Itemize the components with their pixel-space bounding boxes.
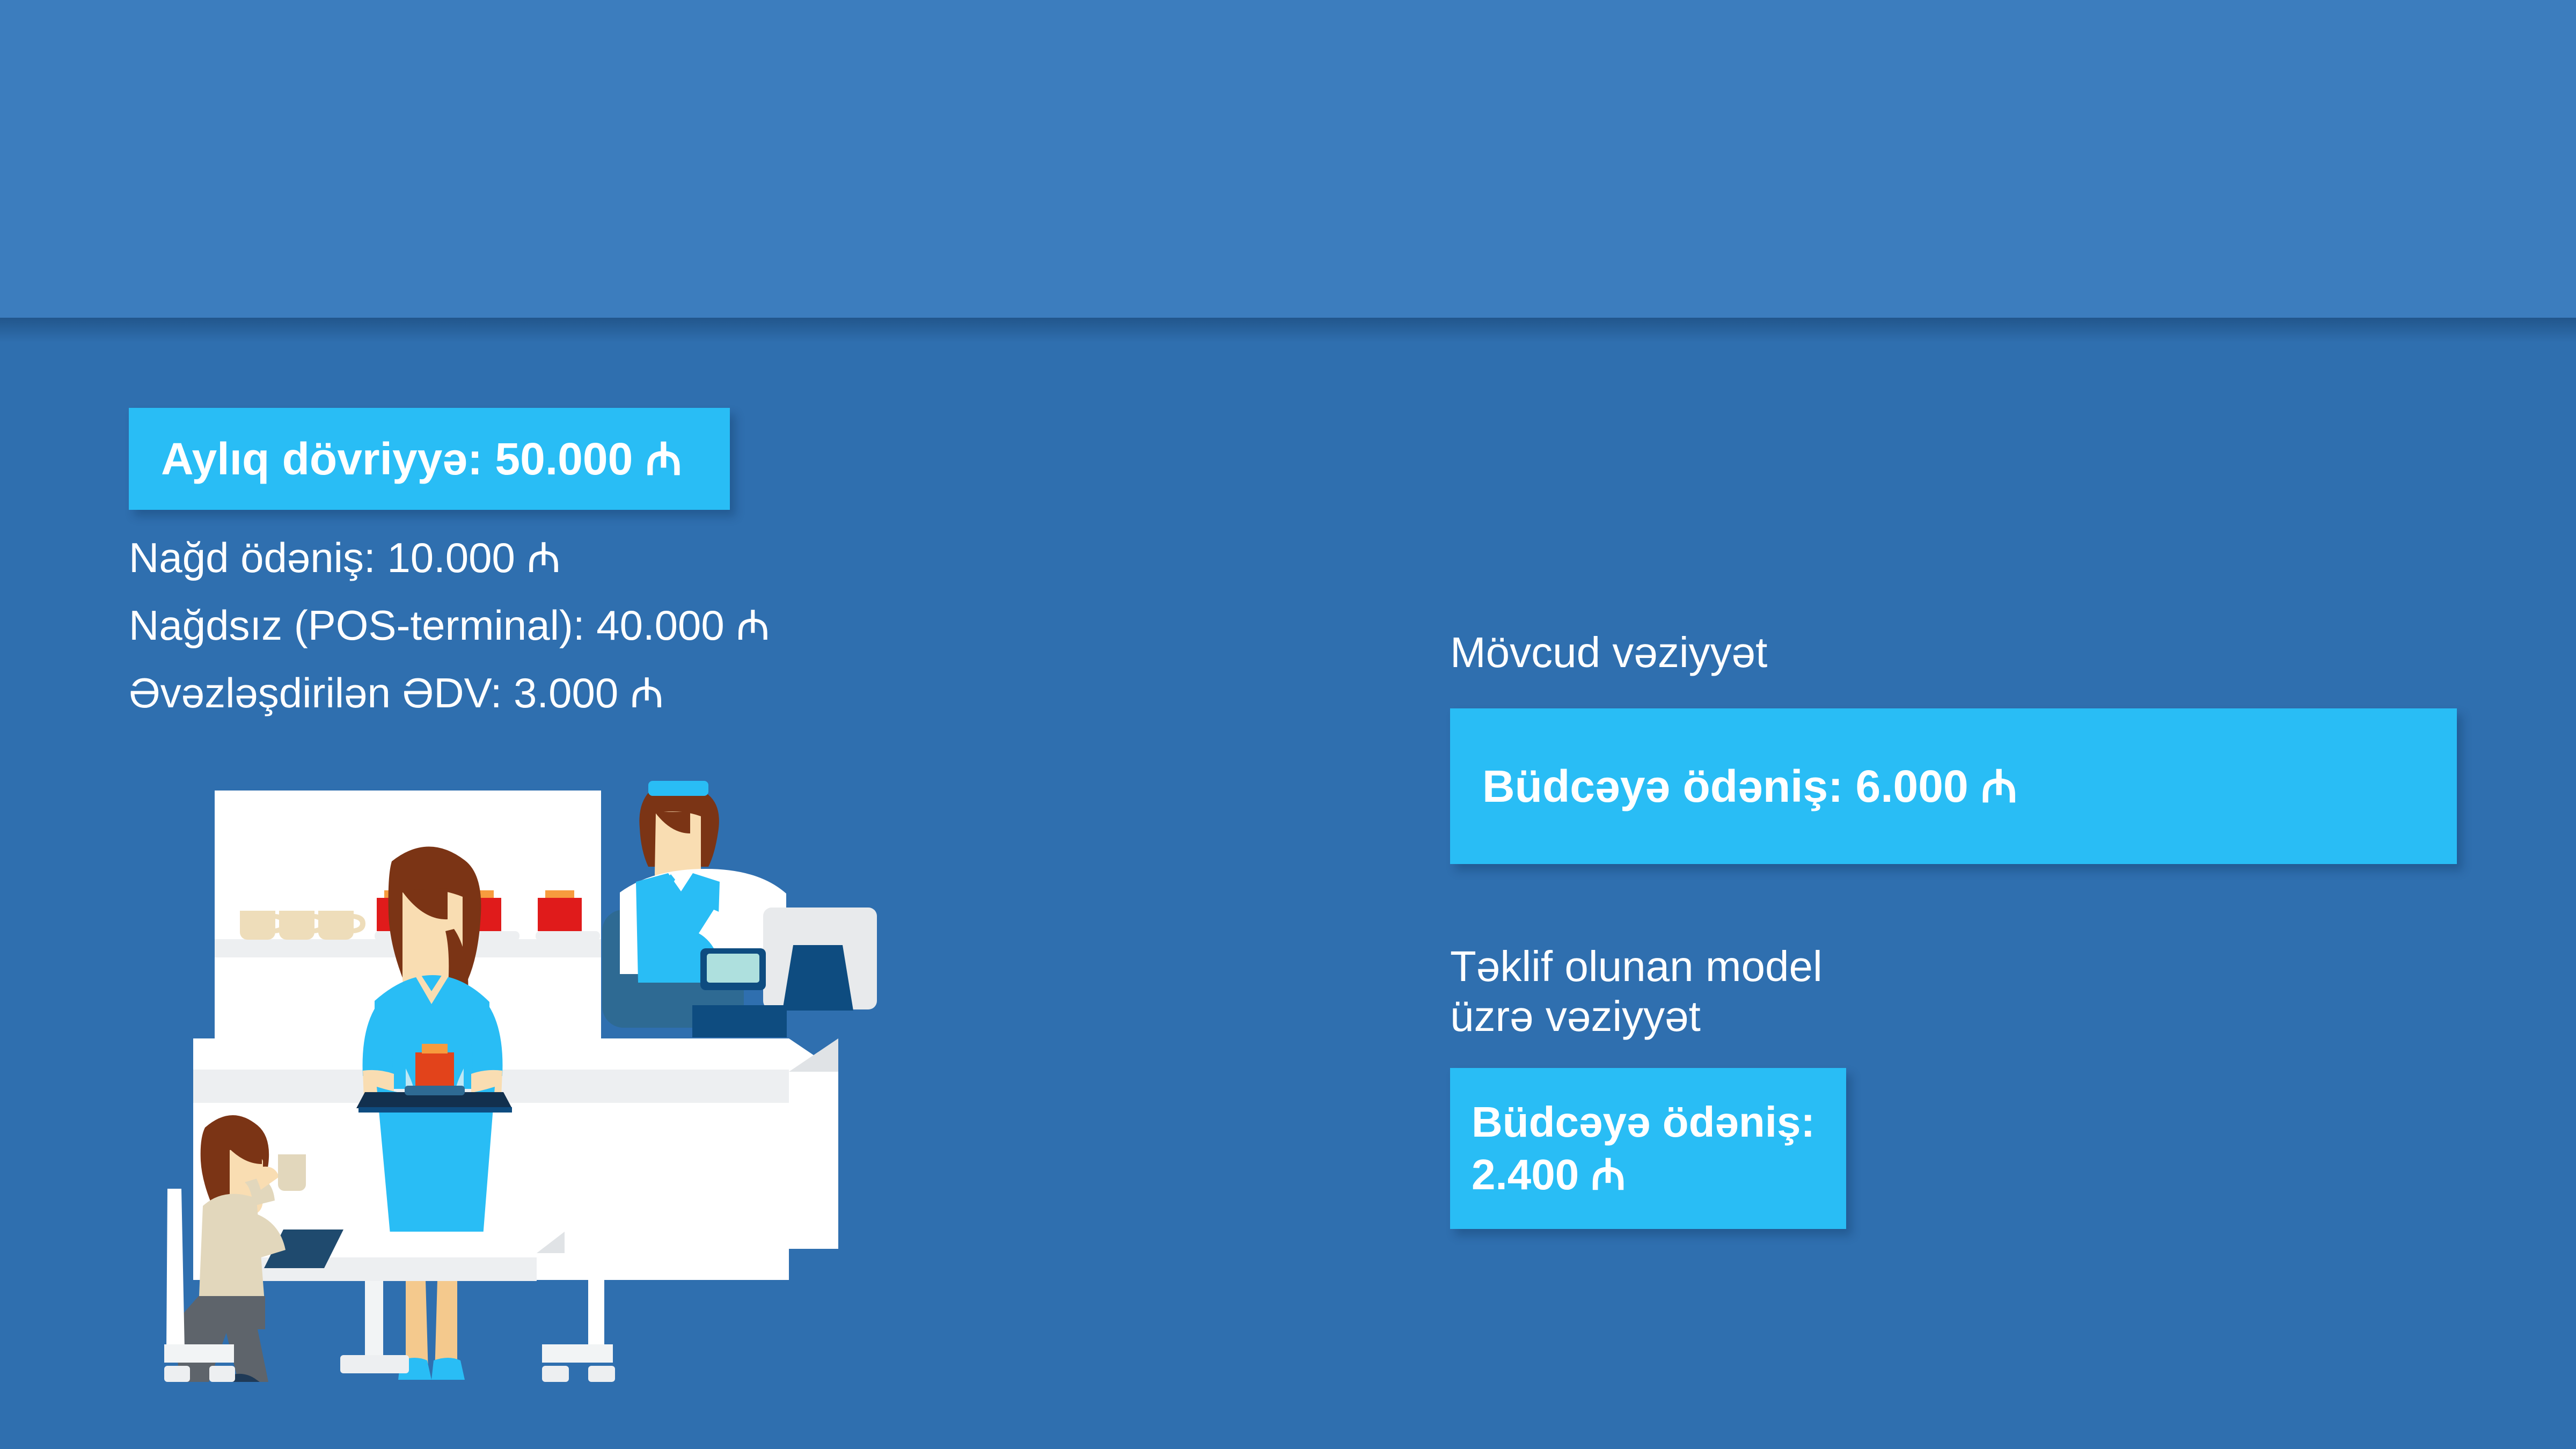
- turnover-highlight-box: Aylıq dövriyyə: 50.000 ₼: [129, 408, 730, 510]
- header-shadow: [0, 318, 2576, 342]
- breakdown-list: Nağd ödəniş: 10.000 ₼ Nağdsız (POS-termi…: [129, 537, 1095, 740]
- cup-group: [240, 911, 365, 940]
- list-item: Əvəzləşdirilən ƏDV: 3.000 ₼: [129, 672, 1095, 714]
- current-payment-box: Büdcəyə ödəniş: 6.000 ₼: [1450, 708, 2457, 864]
- slide-root: İCTİMAİ İAŞƏDƏ NAĞDSIZ ÖDƏNİŞLƏRƏ VERGİ …: [0, 0, 2576, 1449]
- cafe-scene-illustration: [134, 749, 885, 1382]
- header-band: [0, 0, 2576, 318]
- turnover-value-text: Aylıq dövriyyə: 50.000 ₼: [161, 436, 682, 481]
- proposed-payment-value: Büdcəyə ödəniş: 2.400 ₼: [1472, 1096, 1846, 1201]
- current-payment-value: Büdcəyə ödəniş: 6.000 ₼: [1482, 764, 2017, 809]
- current-state-label: Mövcud vəziyyət: [1450, 628, 1767, 678]
- list-item: Nağd ödəniş: 10.000 ₼: [129, 537, 1095, 579]
- proposed-model-label: Təklif olunan model üzrə vəziyyət: [1450, 942, 1823, 1042]
- list-item: Nağdsız (POS-terminal): 40.000 ₼: [129, 604, 1095, 646]
- proposed-payment-box: Büdcəyə ödəniş: 2.400 ₼: [1450, 1068, 1846, 1229]
